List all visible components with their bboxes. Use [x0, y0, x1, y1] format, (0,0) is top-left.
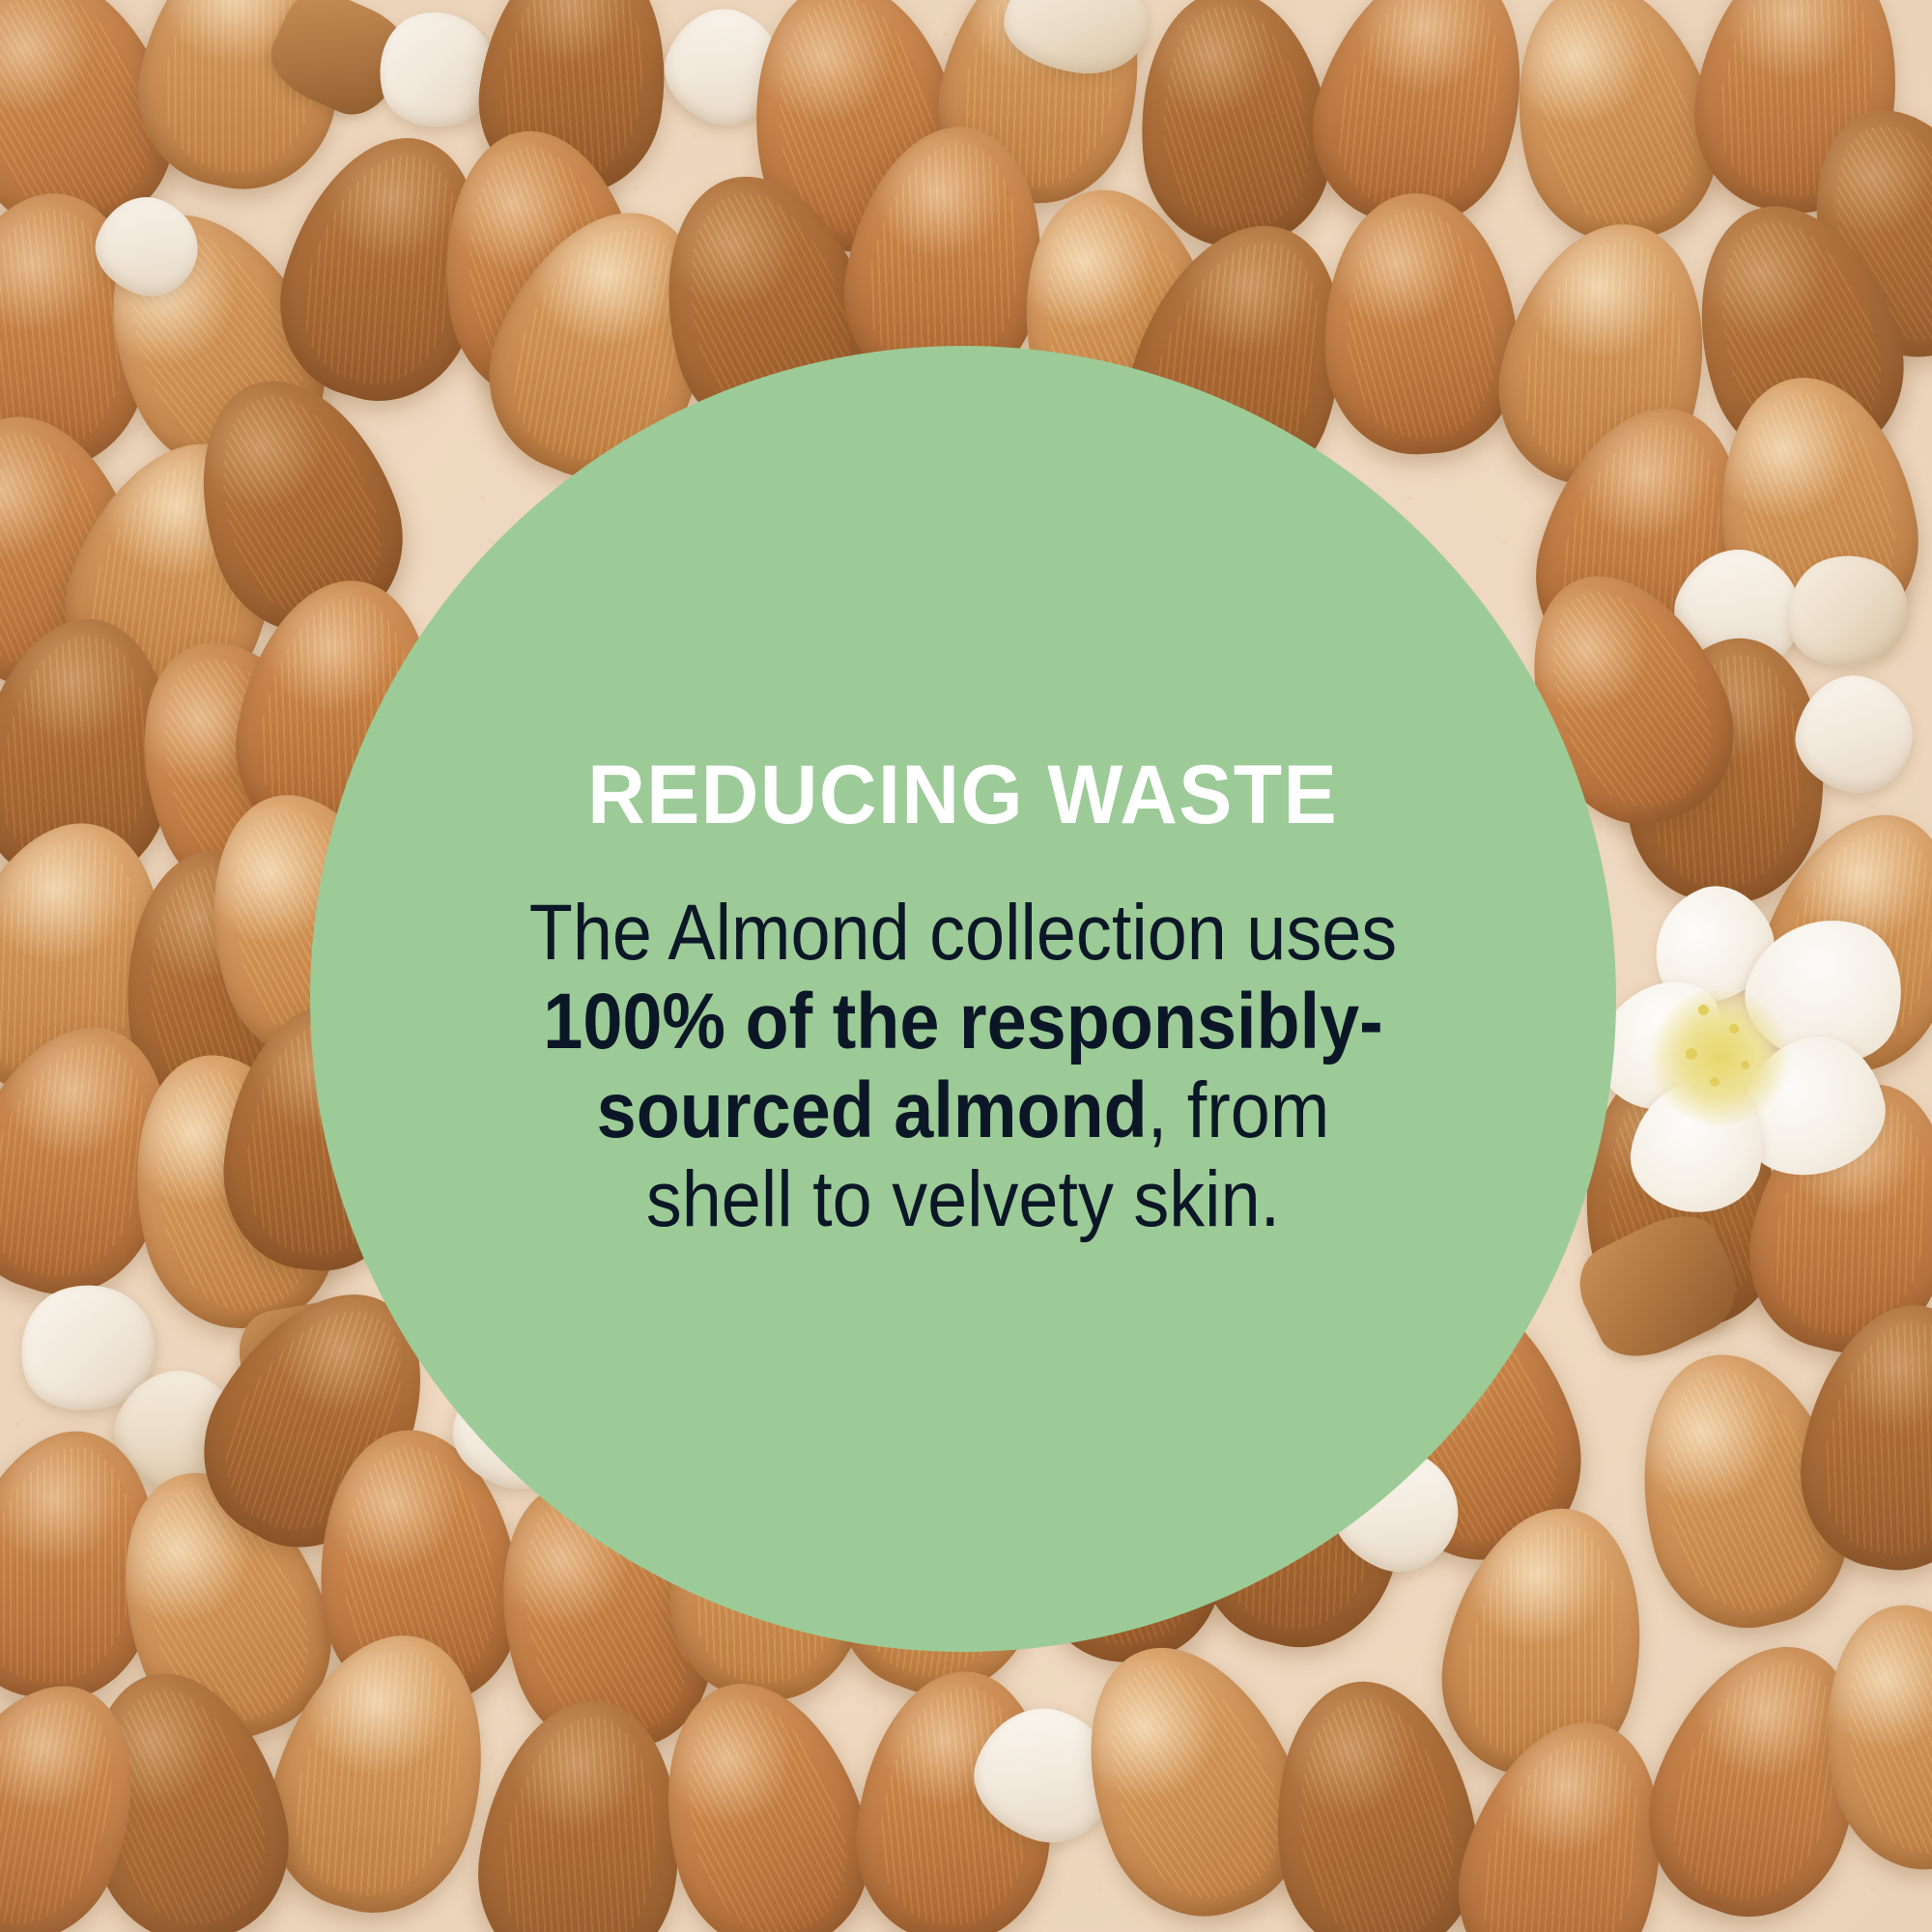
- blossom-pollen: [1710, 1077, 1719, 1087]
- almond-blossom: [1594, 869, 1932, 1217]
- blossom-pollen: [1729, 1024, 1739, 1034]
- page-title: REDUCING WASTE: [588, 753, 1339, 837]
- blossom-pollen: [1741, 1061, 1749, 1069]
- poster-canvas: REDUCING WASTE The Almond collection use…: [0, 0, 1932, 1932]
- body-copy-lead: The Almond collection uses: [529, 889, 1397, 977]
- blossom-pollen: [1686, 1048, 1697, 1060]
- body-copy: The Almond collection uses 100% of the r…: [528, 889, 1398, 1243]
- blossom-stamens: [1647, 990, 1792, 1125]
- blossom-pollen: [1698, 1005, 1709, 1015]
- green-circle-overlay: REDUCING WASTE The Almond collection use…: [310, 346, 1616, 1652]
